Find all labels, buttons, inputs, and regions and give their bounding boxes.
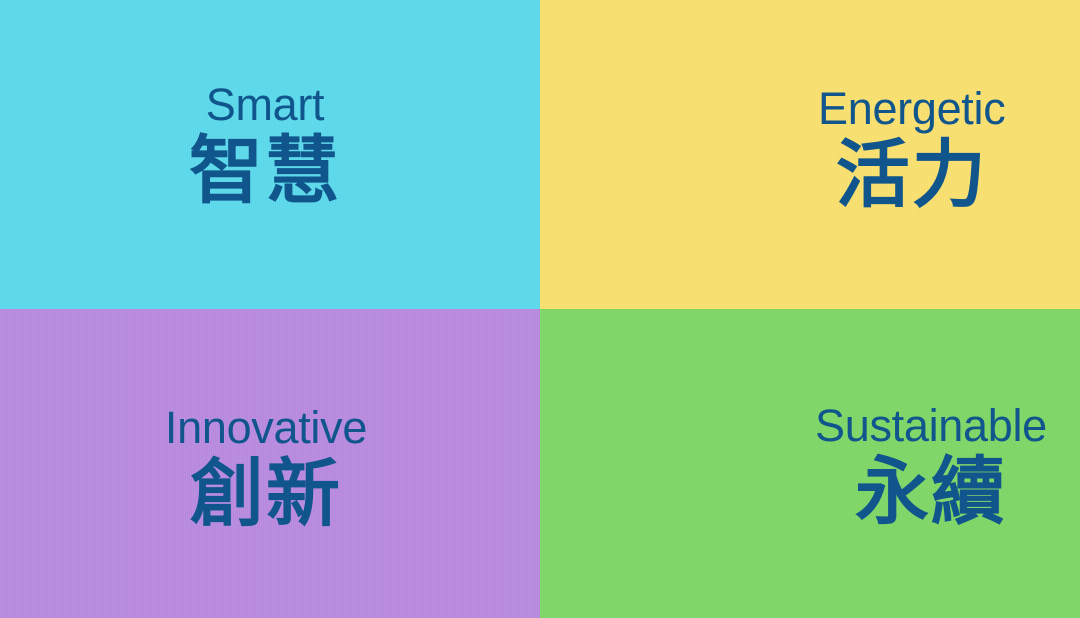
label-stack-smart: Smart 智慧 xyxy=(189,81,341,212)
quadrant-sustainable[interactable]: Sustainable 永續 xyxy=(540,309,1080,618)
brand-values-canvas: Smart 智慧 Energetic 活力 Innovative 創新 Sust… xyxy=(0,0,1080,618)
quadrant-energetic[interactable]: Energetic 活力 xyxy=(540,0,1080,309)
label-stack-innovative: Innovative 創新 xyxy=(165,404,367,535)
english-label-innovative: Innovative xyxy=(165,404,367,451)
quadrant-smart[interactable]: Smart 智慧 xyxy=(0,0,540,309)
english-label-smart: Smart xyxy=(206,81,325,128)
label-stack-energetic: Energetic 活力 xyxy=(818,85,1005,216)
chinese-label-energetic: 活力 xyxy=(836,136,988,216)
chinese-label-sustainable: 永續 xyxy=(855,453,1007,533)
quadrant-innovative[interactable]: Innovative 創新 xyxy=(0,309,540,618)
quadrant-grid: Smart 智慧 Energetic 活力 Innovative 創新 Sust… xyxy=(0,0,1080,618)
label-stack-sustainable: Sustainable 永續 xyxy=(815,402,1047,533)
english-label-sustainable: Sustainable xyxy=(815,402,1047,449)
chinese-label-innovative: 創新 xyxy=(190,455,342,535)
english-label-energetic: Energetic xyxy=(818,85,1005,132)
chinese-label-smart: 智慧 xyxy=(189,132,341,212)
